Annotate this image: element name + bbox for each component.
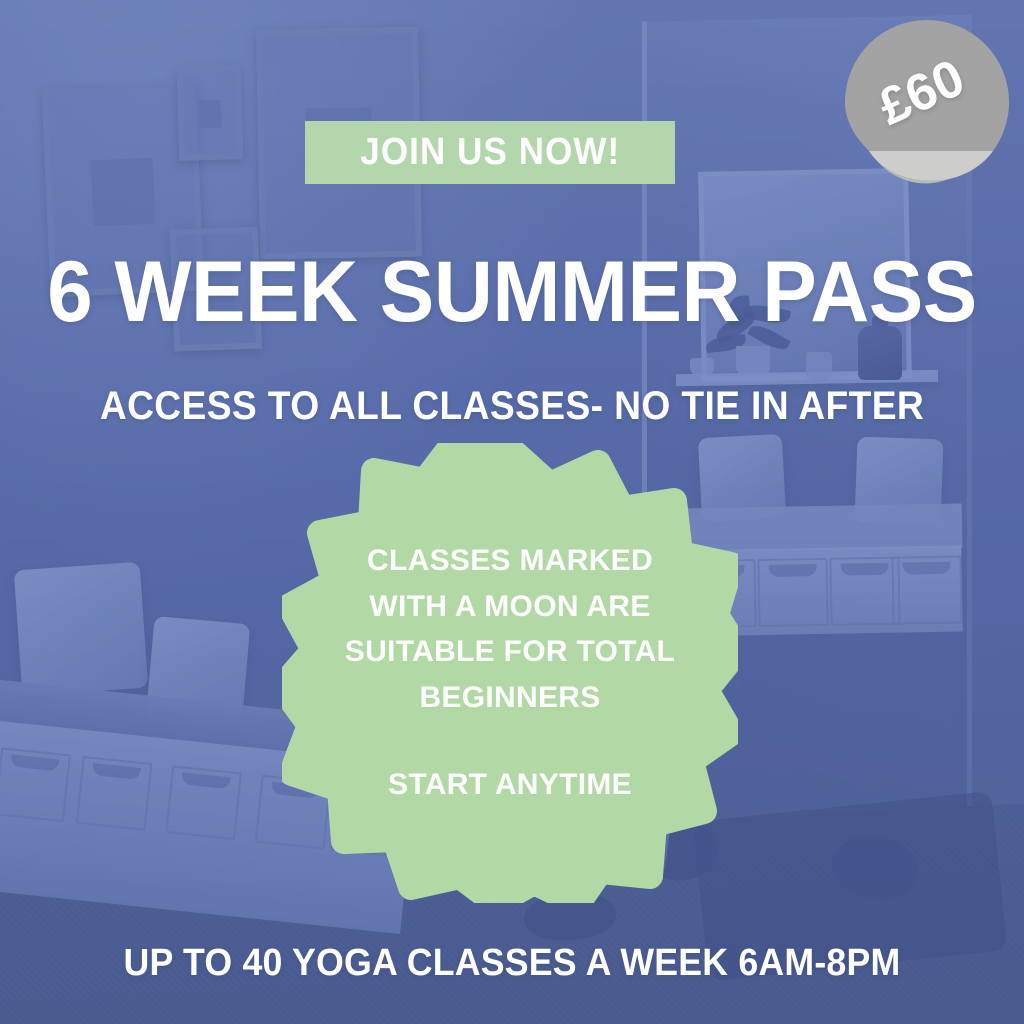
join-us-banner[interactable]: JOIN US NOW! (305, 121, 675, 184)
badge-line: BEGINNERS (419, 675, 600, 721)
badge-callout: START ANYTIME (388, 762, 632, 808)
price-sticker: £60 (843, 18, 1011, 184)
subtitle: ACCESS TO ALL CLASSES- NO TIE IN AFTER (36, 384, 988, 429)
badge-line: CLASSES MARKED (367, 538, 653, 584)
price-value: £60 (869, 48, 973, 138)
badge-line: WITH A MOON ARE (369, 584, 650, 630)
starburst-badge-text: CLASSES MARKED WITH A MOON ARE SUITABLE … (282, 443, 738, 903)
price-sticker-label: £60 (843, 18, 1011, 184)
page-title: 6 WEEK SUMMER PASS (26, 243, 999, 342)
promo-poster: JOIN US NOW! 6 WEEK SUMMER PASS ACCESS T… (0, 0, 1024, 1024)
starburst-badge: CLASSES MARKED WITH A MOON ARE SUITABLE … (282, 443, 738, 903)
join-us-banner-label: JOIN US NOW! (360, 131, 620, 174)
footer-text: UP TO 40 YOGA CLASSES A WEEK 6AM-8PM (31, 942, 994, 985)
badge-line: SUITABLE FOR TOTAL (345, 629, 675, 675)
